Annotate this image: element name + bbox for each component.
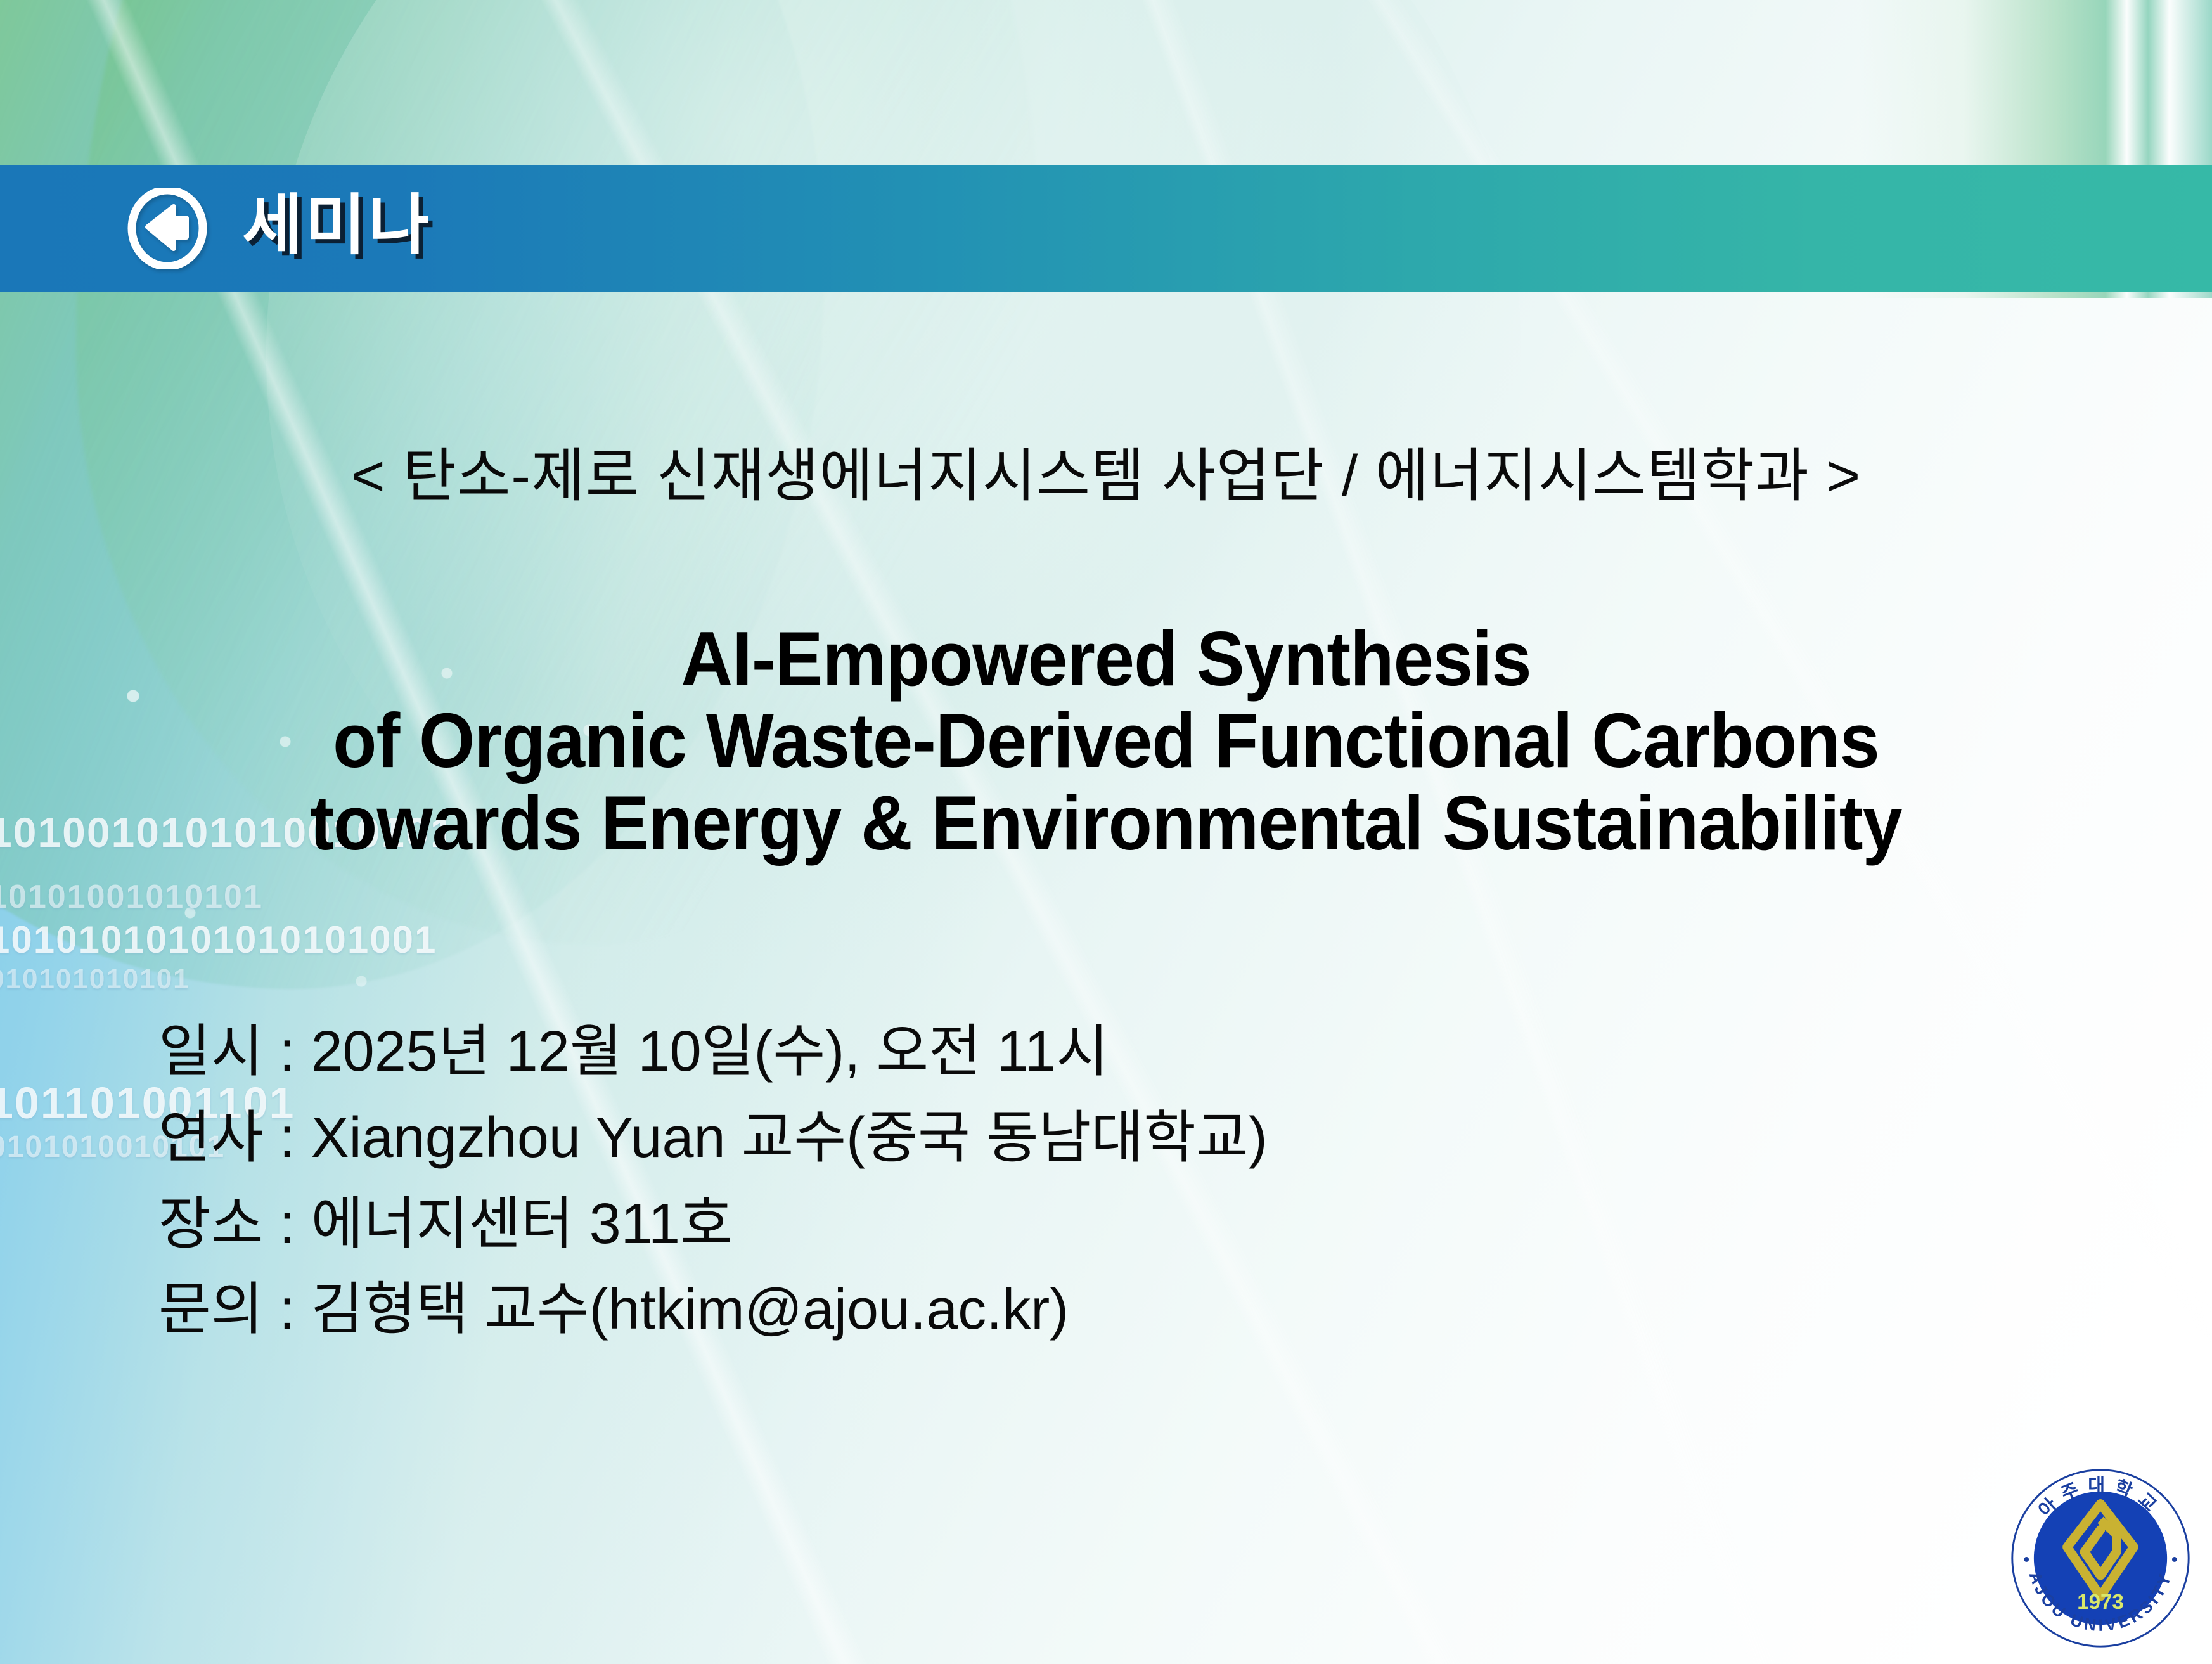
seminar-title: AI-Empowered Synthesis of Organic Waste-… — [0, 618, 2212, 864]
detail-datetime: 일시 : 2025년 12월 10일(수), 오전 11시 — [158, 1017, 1268, 1087]
department-subtitle: < 탄소-제로 신재생에너지시스템 사업단 / 에너지시스템학과 > — [0, 429, 2212, 513]
title-line-1: AI-Empowered Synthesis — [77, 618, 2135, 700]
detail-location: 장소 : 에너지센터 311호 — [158, 1190, 1268, 1260]
ajou-university-logo: 1973 아주대학교 AJOU UNIVERSITY — [2008, 1466, 2193, 1651]
detail-speaker: 연사 : Xiangzhou Yuan 교수(중국 동남대학교) — [158, 1104, 1268, 1173]
seminar-details: 일시 : 2025년 12월 10일(수), 오전 11시 연사 : Xiang… — [158, 1017, 1268, 1345]
title-line-3: towards Energy & Environmental Sustainab… — [77, 782, 2135, 864]
poster-content: < 탄소-제로 신재생에너지시스템 사업단 / 에너지시스템학과 > AI-Em… — [0, 0, 2212, 1664]
logo-founded-year: 1973 — [2077, 1590, 2124, 1614]
title-line-2: of Organic Waste-Derived Functional Carb… — [77, 700, 2135, 782]
detail-contact: 문의 : 김형택 교수(htkim@ajou.ac.kr) — [158, 1275, 1268, 1345]
seminar-poster: 1010010101010010101 10101001010101 10101… — [0, 0, 2212, 1664]
